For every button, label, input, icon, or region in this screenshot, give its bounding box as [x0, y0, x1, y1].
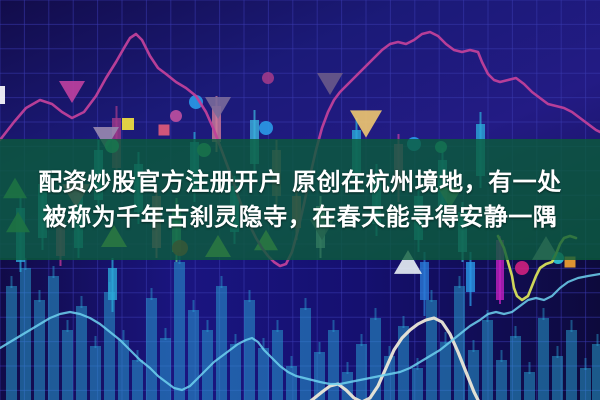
headline-line-2: 被称为千年古刹灵隐寺，在春天能寻得安静一隅 — [43, 203, 558, 231]
headline-block: 配资炒股官方注册开户 原创在杭州境地，有一处 被称为千年古刹灵隐寺，在春天能寻得… — [0, 139, 600, 260]
headline-line-1: 配资炒股官方注册开户 原创在杭州境地，有一处 — [38, 168, 561, 196]
banner-image: 配资炒股官方注册开户 原创在杭州境地，有一处 被称为千年古刹灵隐寺，在春天能寻得… — [0, 0, 600, 400]
